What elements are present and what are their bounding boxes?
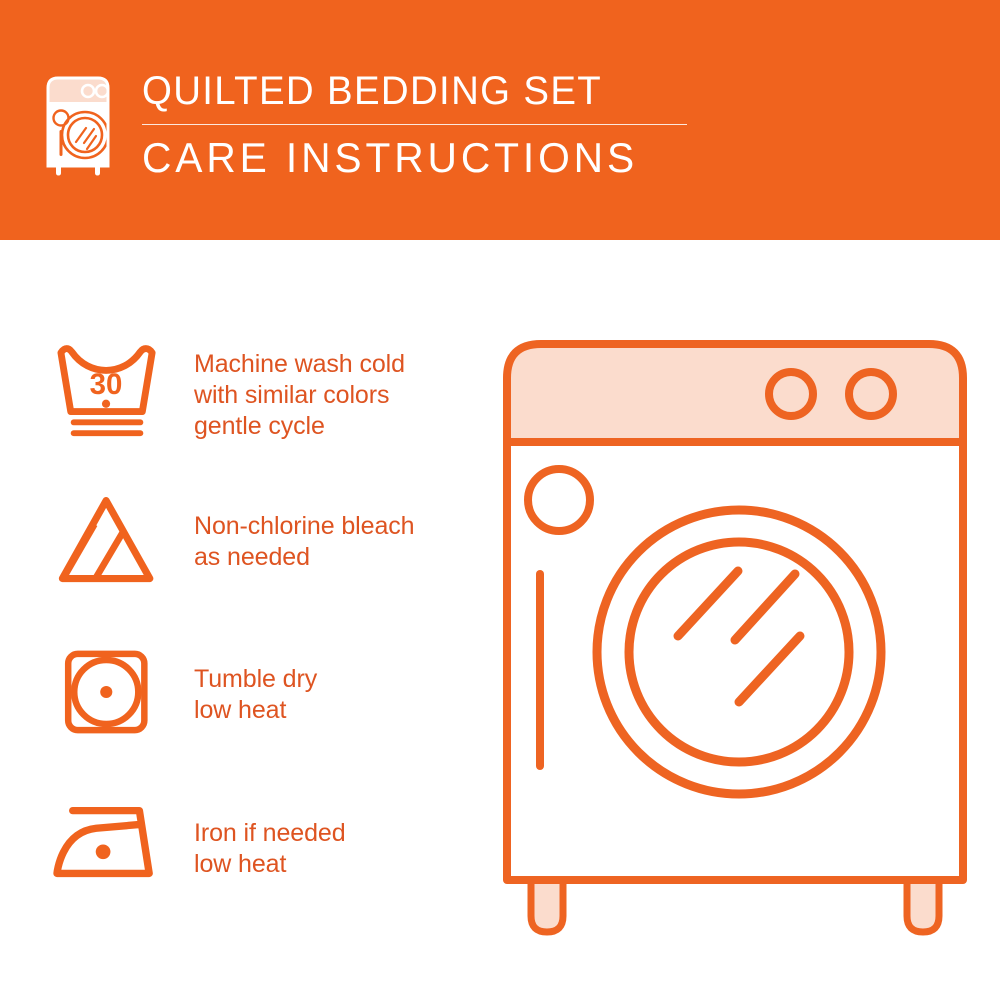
leg-left <box>531 880 563 932</box>
detergent-slot <box>536 570 544 770</box>
care-item-bleach-text: Non-chlorine bleach as needed <box>168 480 478 573</box>
title-divider <box>142 124 687 125</box>
care-text-line: low heat <box>194 849 478 880</box>
care-item-bleach: Non-chlorine bleach as needed <box>48 480 478 620</box>
front-load-washing-machine-illustration <box>495 330 975 940</box>
care-item-tumble-dry-text: Tumble dry low heat <box>168 632 478 726</box>
care-text-line: Non-chlorine bleach <box>194 511 478 542</box>
tumble-dry-low-heat-icon <box>48 632 168 752</box>
care-item-iron: Iron if needed low heat <box>48 782 478 922</box>
page-title: QUILTED BEDDING SET <box>142 68 680 114</box>
care-item-machine-wash: 30 Machine wash cold with similar colors… <box>48 330 478 470</box>
care-instructions-page: QUILTED BEDDING SET CARE INSTRUCTIONS 30 <box>0 0 1000 1000</box>
care-text-line: gentle cycle <box>194 411 478 442</box>
iron-low-heat-icon <box>48 782 168 902</box>
care-text-line: low heat <box>194 695 478 726</box>
care-instructions-list: 30 Machine wash cold with similar colors… <box>48 330 478 922</box>
leg-right <box>907 880 939 932</box>
care-text-line: with similar colors <box>194 380 478 411</box>
care-item-tumble-dry: Tumble dry low heat <box>48 632 478 772</box>
page-subtitle: CARE INSTRUCTIONS <box>142 134 685 182</box>
wash-temperature-label: 30 <box>90 368 123 401</box>
non-chlorine-bleach-triangle-icon <box>48 480 168 600</box>
care-item-machine-wash-text: Machine wash cold with similar colors ge… <box>168 330 478 442</box>
care-text-line: Iron if needed <box>194 818 478 849</box>
header-title-group: QUILTED BEDDING SET CARE INSTRUCTIONS <box>142 68 702 182</box>
header-banner: QUILTED BEDDING SET CARE INSTRUCTIONS <box>0 0 1000 240</box>
care-item-iron-text: Iron if needed low heat <box>168 782 478 880</box>
washing-machine-logo-icon <box>44 72 116 176</box>
care-text-line: Machine wash cold <box>194 349 478 380</box>
care-text-line: as needed <box>194 542 478 573</box>
care-text-line: Tumble dry <box>194 664 478 695</box>
wash-tub-30-gentle-icon: 30 <box>48 330 168 450</box>
